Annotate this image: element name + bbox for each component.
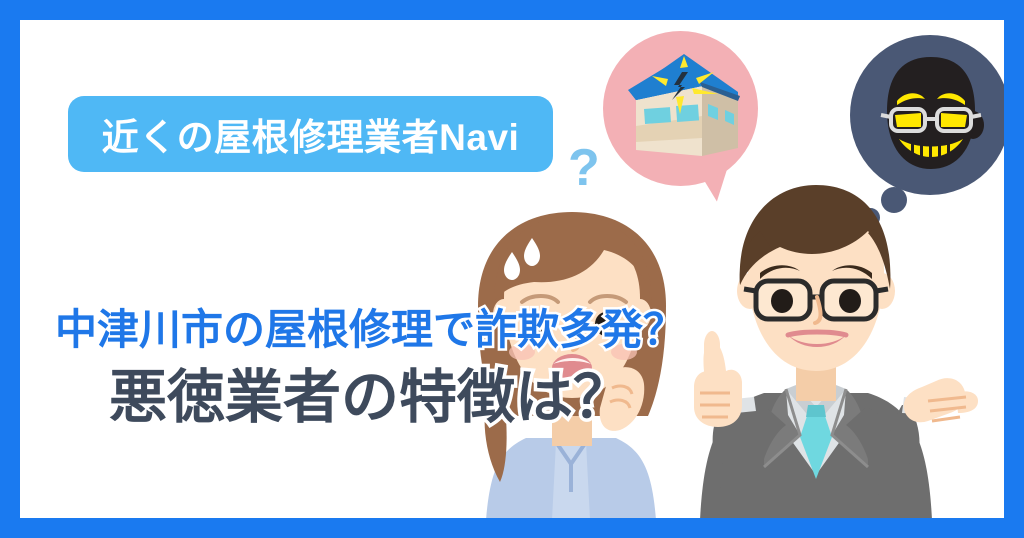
damaged-house-icon [622, 52, 744, 164]
banner-canvas: 近くの屋根修理業者Navi ? 中津川市の屋根修理で詐欺多発？ 悪徳業者の特徴は… [20, 20, 1004, 518]
site-logo-label: 近くの屋根修理業者Navi [102, 107, 520, 161]
question-mark-decoration: ? [568, 138, 600, 198]
villain-face-icon [869, 53, 993, 177]
headline-block: 中津川市の屋根修理で詐欺多発？ 悪徳業者の特徴は？ [30, 305, 710, 433]
eyecatch-banner: 近くの屋根修理業者Navi ? 中津川市の屋根修理で詐欺多発？ 悪徳業者の特徴は… [0, 0, 1024, 538]
site-logo-badge[interactable]: 近くの屋根修理業者Navi [68, 96, 553, 172]
headline-line-2: 悪徳業者の特徴は？ [30, 363, 710, 433]
headline-line-1: 中津川市の屋根修理で詐欺多発？ [30, 305, 710, 355]
